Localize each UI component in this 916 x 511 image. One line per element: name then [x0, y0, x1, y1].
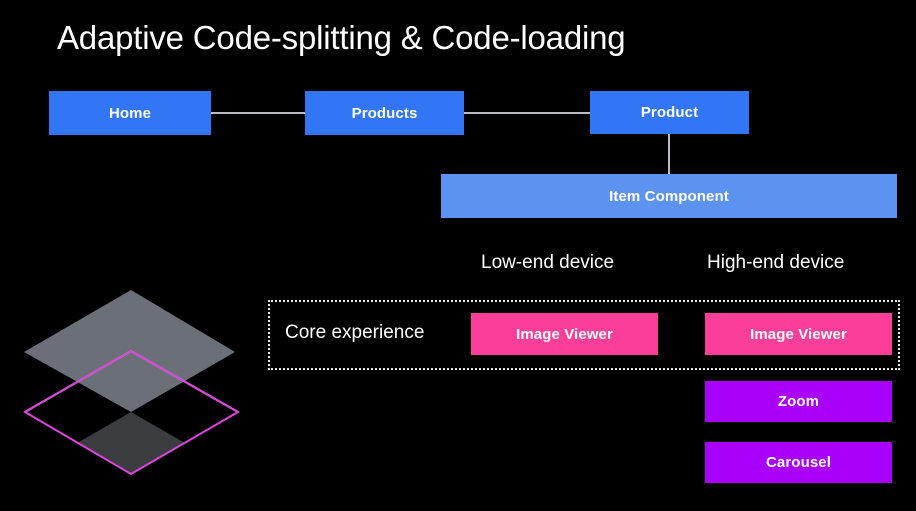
stacked-layers-diamond-icon	[0, 280, 260, 490]
feature-chip-high-carousel[interactable]: Carousel	[705, 442, 892, 483]
core-experience-label: Core experience	[285, 322, 424, 344]
connector-home-to-products	[211, 112, 305, 114]
slide-canvas: Adaptive Code-splitting & Code-loading H…	[0, 0, 916, 511]
feature-chip-high-image-viewer[interactable]: Image Viewer	[705, 313, 892, 355]
flow-node-product[interactable]: Product	[590, 91, 749, 134]
column-heading-high-end-device: High-end device	[707, 252, 844, 274]
column-heading-low-end-device: Low-end device	[481, 252, 614, 274]
flow-node-home[interactable]: Home	[49, 91, 211, 135]
feature-chip-low-image-viewer[interactable]: Image Viewer	[471, 313, 658, 355]
flow-node-item-component[interactable]: Item Component	[441, 174, 897, 218]
flow-node-products[interactable]: Products	[305, 91, 464, 135]
connector-product-to-item-component	[668, 134, 670, 174]
connector-products-to-product	[464, 112, 590, 114]
feature-chip-high-zoom[interactable]: Zoom	[705, 381, 892, 422]
page-title: Adaptive Code-splitting & Code-loading	[57, 19, 625, 57]
